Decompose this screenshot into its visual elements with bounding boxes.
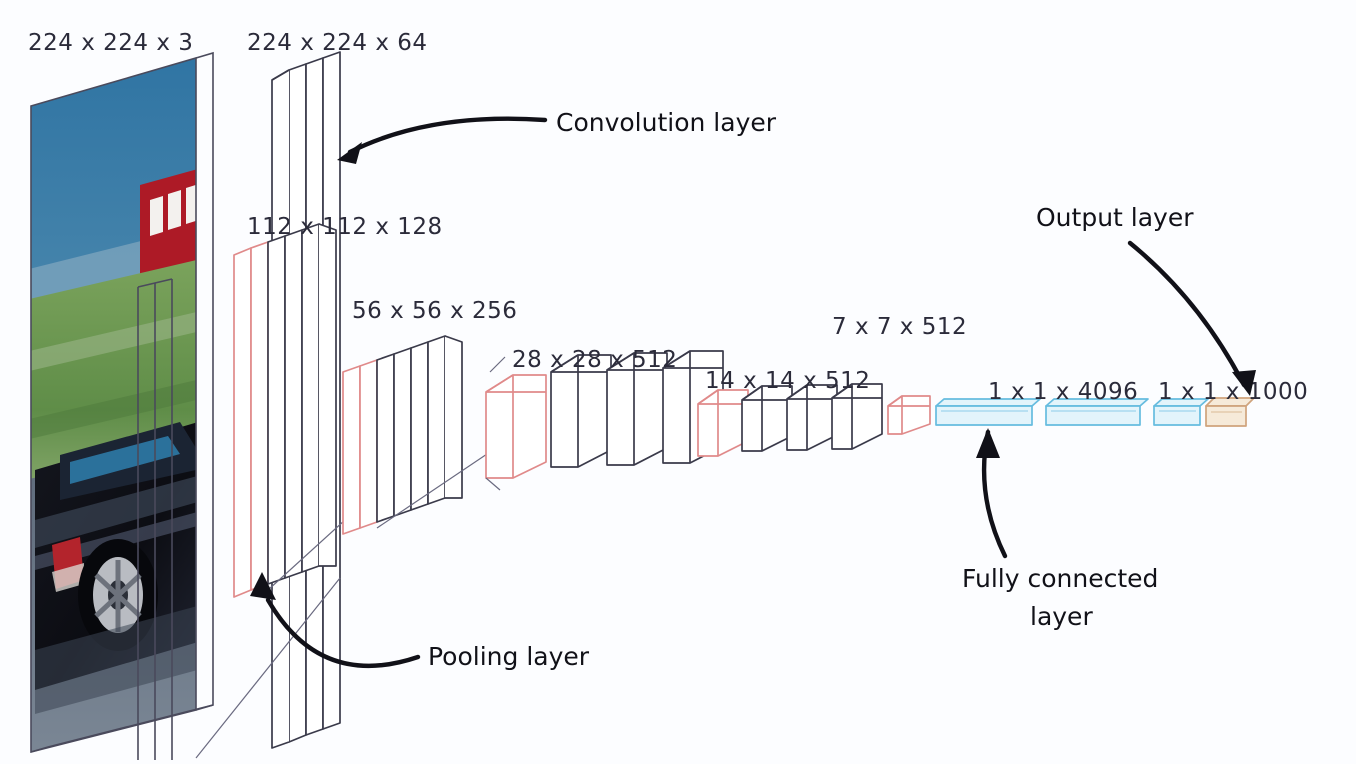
convolution-arrowhead xyxy=(337,142,362,164)
annotation-fully-connected-line1: Fully connected xyxy=(962,564,1158,593)
annotation-output-layer: Output layer xyxy=(1036,203,1194,232)
output-arrow-line xyxy=(1130,243,1244,385)
annotations: Convolution layer Pooling layer Output l… xyxy=(0,0,1356,764)
pooling-arrowhead xyxy=(250,572,276,600)
fully-connected-arrowhead xyxy=(976,428,1000,458)
annotation-pooling-layer: Pooling layer xyxy=(428,642,590,671)
annotation-convolution-layer: Convolution layer xyxy=(556,108,777,137)
output-arrowhead xyxy=(1232,370,1256,396)
annotation-fully-connected-line2: layer xyxy=(1030,602,1093,631)
vgg16-diagram: 224 x 224 x 3 224 x 224 x 64 112 x 112 x… xyxy=(0,0,1356,764)
convolution-arrow-line xyxy=(350,119,545,152)
pooling-arrow-line xyxy=(268,600,418,666)
